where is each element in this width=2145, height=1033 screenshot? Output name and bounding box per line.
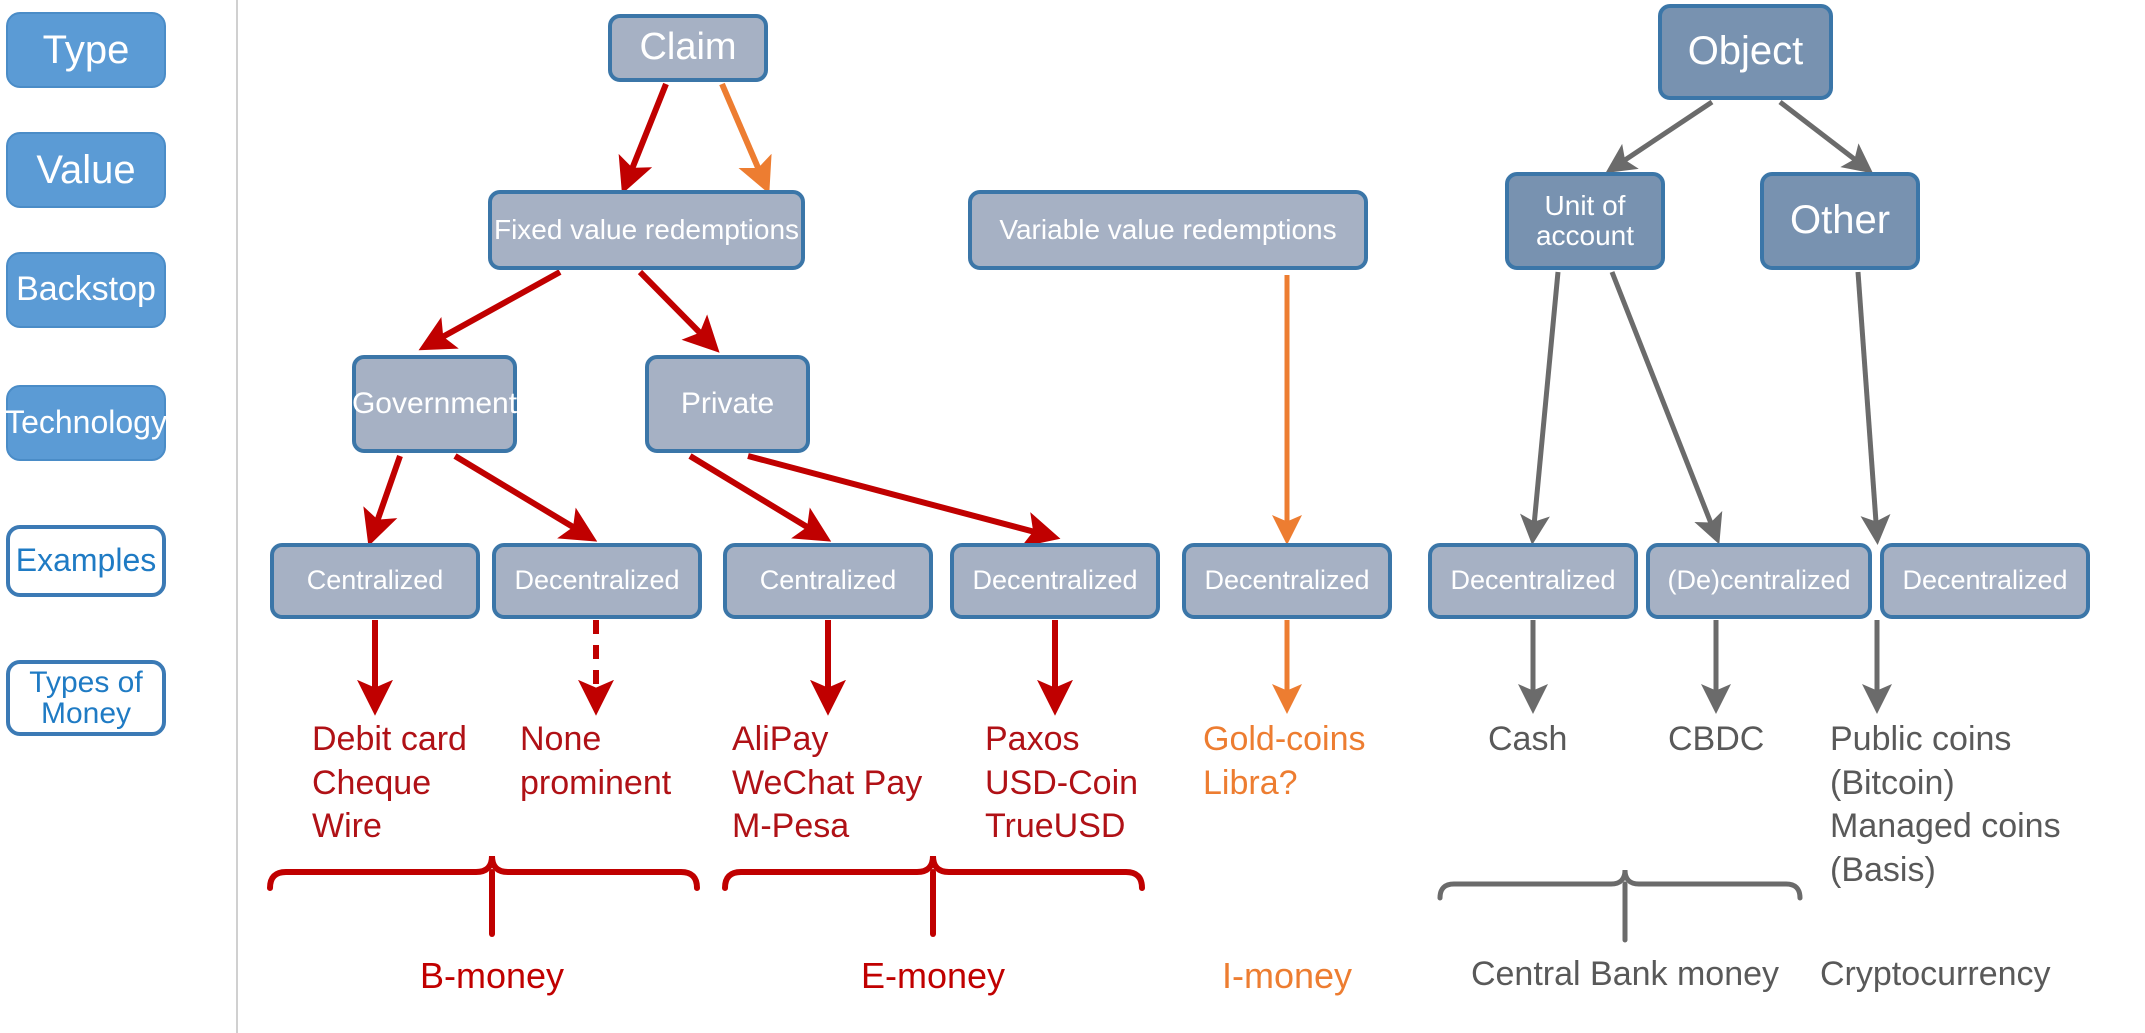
example-b-money-centralized: Debit card Cheque Wire [312,718,467,849]
node-tech-gov-centralized[interactable]: Centralized [270,543,480,619]
example-e-money-decentralized: Paxos USD-Coin TrueUSD [985,718,1138,849]
node-object[interactable]: Object [1658,4,1833,100]
node-tech-priv-decentralized[interactable]: Decentralized [950,543,1160,619]
example-i-money: Gold-coins Libra? [1203,718,1366,805]
diagram-canvas: Type Value Backstop Technology Examples … [0,0,2145,1033]
arrow-fixed-to-government [428,272,560,345]
arrow-government-to-decentralized [455,456,588,536]
category-label-value-text: Value [36,149,135,191]
node-tech-priv-decentralized-label: Decentralized [972,566,1137,595]
node-government-label: Government [352,388,517,420]
node-tech-unit-de-centralized-label: (De)centralized [1667,566,1850,595]
category-label-types-of-money-line1: Types of [29,667,142,699]
node-unit-of-account[interactable]: Unit of account [1505,172,1665,270]
arrow-private-to-decentralized [748,456,1050,536]
arrow-object-to-other [1780,102,1866,168]
node-tech-unit-decentralized[interactable]: Decentralized [1428,543,1638,619]
example-cryptocurrency: Public coins (Bitcoin) Managed coins (Ba… [1830,718,2061,892]
category-label-type-text: Type [43,29,130,71]
category-label-examples-text: Examples [16,544,157,578]
example-e-money-centralized: AliPay WeChat Pay M-Pesa [732,718,922,849]
category-label-type: Type [6,12,166,88]
arrow-object-to-unit [1613,102,1712,168]
connector-layer [0,0,2145,1033]
arrow-claim-to-variable [722,84,765,184]
node-tech-priv-centralized-label: Centralized [760,566,897,595]
node-unit-of-account-line1: Unit of [1545,191,1626,221]
arrow-fixed-to-private [640,272,712,345]
node-claim[interactable]: Claim [608,14,768,82]
category-label-types-of-money: Types of Money [6,660,166,736]
node-object-label: Object [1688,30,1804,73]
brace-b-money [270,856,697,888]
money-type-cryptocurrency: Cryptocurrency [1820,955,2120,994]
node-private-label: Private [681,388,774,420]
money-type-b-money: B-money [392,955,592,997]
node-variable-value-redemptions-label: Variable value redemptions [999,215,1336,245]
node-tech-variable-decentralized[interactable]: Decentralized [1182,543,1392,619]
arrow-claim-to-fixed [626,84,666,184]
node-tech-priv-centralized[interactable]: Centralized [723,543,933,619]
arrow-unit-to-mixed [1612,272,1716,536]
node-tech-gov-decentralized-label: Decentralized [514,566,679,595]
node-tech-other-decentralized[interactable]: Decentralized [1880,543,2090,619]
category-label-backstop: Backstop [6,252,166,328]
category-label-examples: Examples [6,525,166,597]
money-type-e-money: E-money [833,955,1033,997]
money-type-i-money: I-money [1192,955,1382,997]
category-label-technology-text: Technology [5,406,167,440]
money-type-central-bank-money: Central Bank money [1445,955,1805,994]
category-label-value: Value [6,132,166,208]
example-b-money-decentralized: None prominent [520,718,671,805]
node-other[interactable]: Other [1760,172,1920,270]
node-government[interactable]: Government [352,355,517,453]
arrow-other-to-decentralized [1858,272,1877,536]
node-claim-label: Claim [639,27,736,68]
node-unit-of-account-line2: account [1536,221,1634,251]
node-tech-gov-centralized-label: Centralized [307,566,444,595]
node-tech-unit-de-centralized[interactable]: (De)centralized [1646,543,1872,619]
brace-central-bank-money [1440,870,1800,898]
node-variable-value-redemptions[interactable]: Variable value redemptions [968,190,1368,270]
category-label-technology: Technology [6,385,166,461]
node-other-label: Other [1790,199,1890,242]
node-private[interactable]: Private [645,355,810,453]
node-tech-other-decentralized-label: Decentralized [1902,566,2067,595]
arrow-government-to-centralized [372,456,400,536]
example-cash: Cash [1488,718,1567,762]
example-cbdc: CBDC [1668,718,1764,762]
category-label-backstop-text: Backstop [16,272,156,308]
node-tech-unit-decentralized-label: Decentralized [1450,566,1615,595]
node-fixed-value-redemptions[interactable]: Fixed value redemptions [488,190,805,270]
node-tech-variable-decentralized-label: Decentralized [1204,566,1369,595]
node-tech-gov-decentralized[interactable]: Decentralized [492,543,702,619]
arrow-unit-to-decentralized [1533,272,1558,536]
node-fixed-value-redemptions-label: Fixed value redemptions [494,215,799,245]
category-label-types-of-money-line2: Money [41,698,131,730]
